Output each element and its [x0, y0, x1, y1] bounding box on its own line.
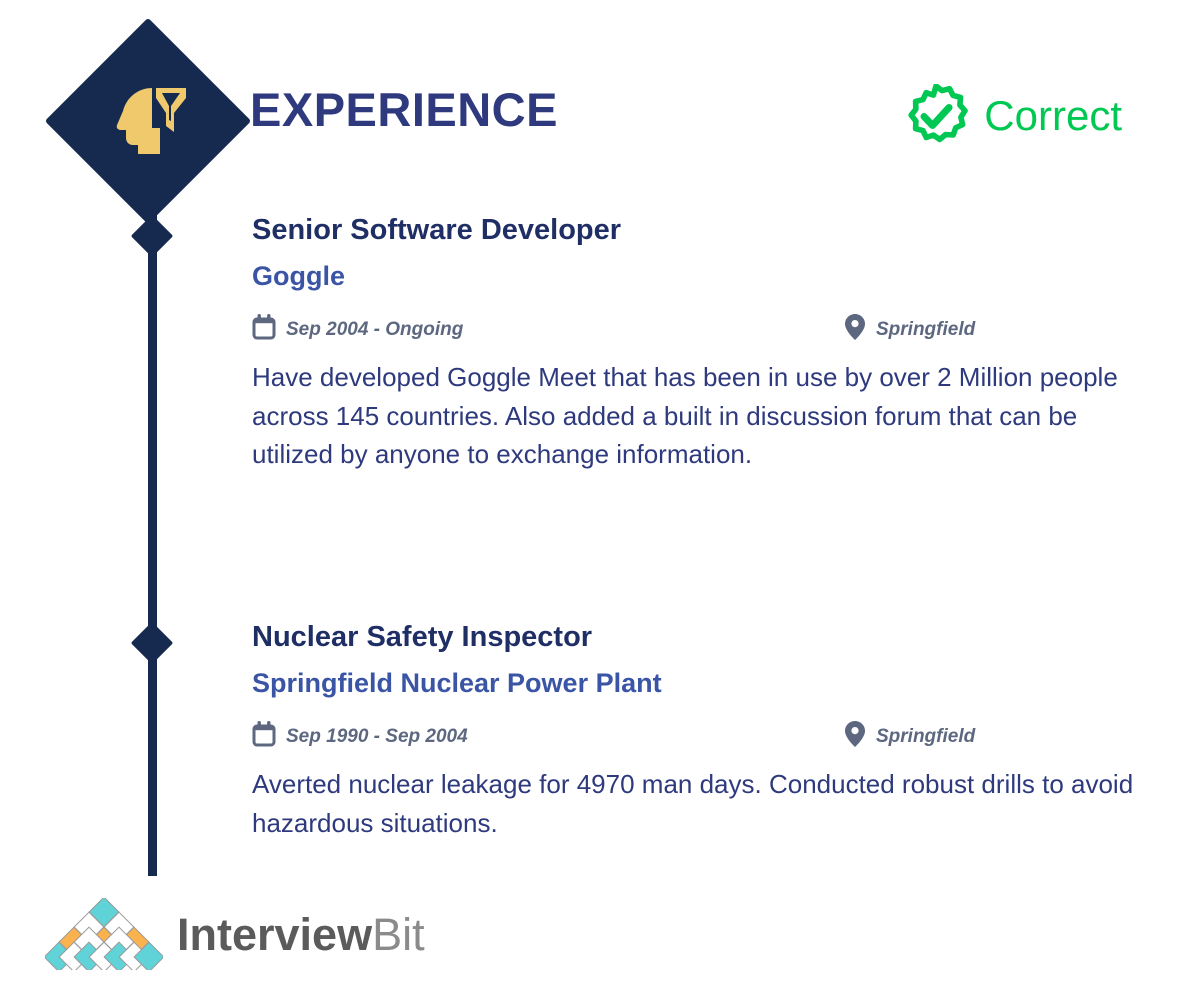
timeline-node-2	[131, 622, 173, 664]
job-title: Nuclear Safety Inspector	[252, 621, 1142, 654]
job-location: Springfield	[844, 314, 975, 344]
brand-name-primary: Interview	[177, 909, 372, 960]
interviewbit-diamonds-logo	[45, 898, 163, 970]
experience-entry: Nuclear Safety Inspector Springfield Nuc…	[252, 621, 1142, 842]
job-meta-row: Sep 1990 - Sep 2004 Springfield	[252, 721, 1062, 751]
timeline-node-1	[131, 215, 173, 257]
job-title: Senior Software Developer	[252, 214, 1122, 247]
job-location: Springfield	[844, 721, 975, 751]
job-location-text: Springfield	[876, 727, 975, 746]
job-description: Have developed Goggle Meet that has been…	[252, 358, 1122, 473]
map-pin-icon	[844, 720, 866, 753]
calendar-icon	[252, 721, 276, 752]
page-title: EXPERIENCE	[250, 86, 558, 133]
status-badge: Correct	[904, 84, 1122, 148]
status-badge-label: Correct	[984, 95, 1122, 137]
map-pin-icon	[844, 313, 866, 346]
check-badge-icon	[904, 84, 968, 148]
job-meta-row: Sep 2004 - Ongoing Springfield	[252, 314, 1062, 344]
job-description: Averted nuclear leakage for 4970 man day…	[252, 765, 1142, 842]
job-date: Sep 1990 - Sep 2004	[252, 721, 468, 751]
job-date-text: Sep 1990 - Sep 2004	[286, 727, 468, 746]
job-company: Goggle	[252, 261, 1122, 292]
head-funnel-icon	[116, 82, 190, 158]
timeline-rail	[148, 150, 157, 876]
job-company: Springfield Nuclear Power Plant	[252, 668, 1142, 699]
brand-logo: InterviewBit	[45, 898, 425, 970]
job-date-text: Sep 2004 - Ongoing	[286, 320, 463, 339]
experience-entry: Senior Software Developer Goggle Sep 200…	[252, 214, 1122, 474]
brand-name-secondary: Bit	[372, 909, 425, 960]
job-location-text: Springfield	[876, 320, 975, 339]
brand-name: InterviewBit	[177, 912, 425, 957]
job-date: Sep 2004 - Ongoing	[252, 314, 463, 344]
calendar-icon	[252, 314, 276, 345]
